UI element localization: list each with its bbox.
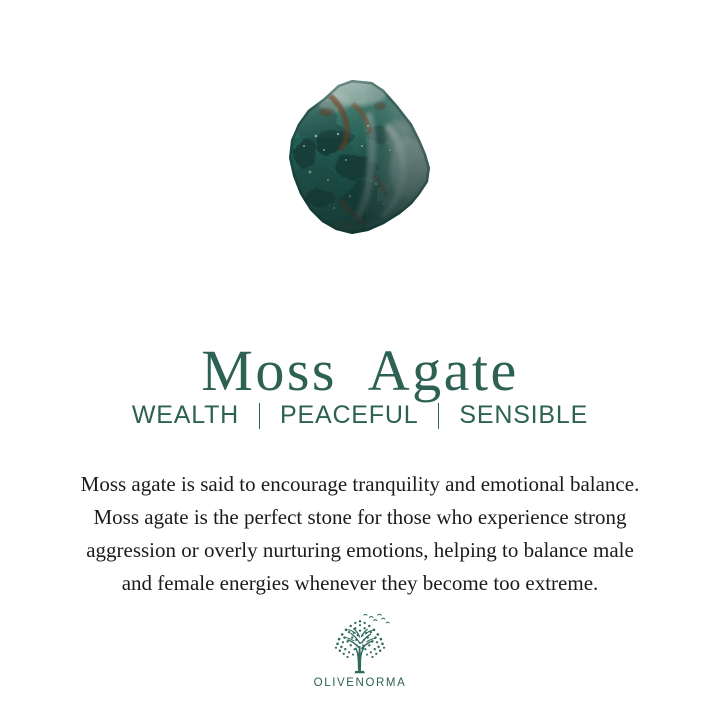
description-line: aggression or overly nurturing emotions,… [36, 534, 684, 567]
keyword-list: WEALTH PEACEFUL SENSIBLE [0, 400, 720, 430]
stone-image-container [0, 72, 720, 242]
brand-name: OLIVENORMA [314, 677, 407, 689]
product-info-card: Moss Agate WEALTH PEACEFUL SENSIBLE Moss… [0, 0, 720, 720]
olive-tree-logo-icon [321, 612, 399, 674]
description-line: Moss agate is said to encourage tranquil… [36, 468, 684, 501]
keyword-separator-2 [438, 403, 439, 429]
keyword-separator-1 [259, 403, 260, 429]
page-title: Moss Agate [0, 339, 720, 403]
keyword-peaceful: PEACEFUL [280, 400, 418, 430]
keyword-sensible: SENSIBLE [459, 400, 588, 430]
description-text: Moss agate is said to encourage tranquil… [36, 468, 684, 600]
description-line: Moss agate is the perfect stone for thos… [36, 501, 684, 534]
keyword-wealth: WEALTH [132, 400, 239, 430]
description-line: and female energies whenever they become… [36, 567, 684, 600]
brand-logo: OLIVENORMA [0, 612, 720, 689]
moss-agate-stone-icon [280, 76, 440, 238]
